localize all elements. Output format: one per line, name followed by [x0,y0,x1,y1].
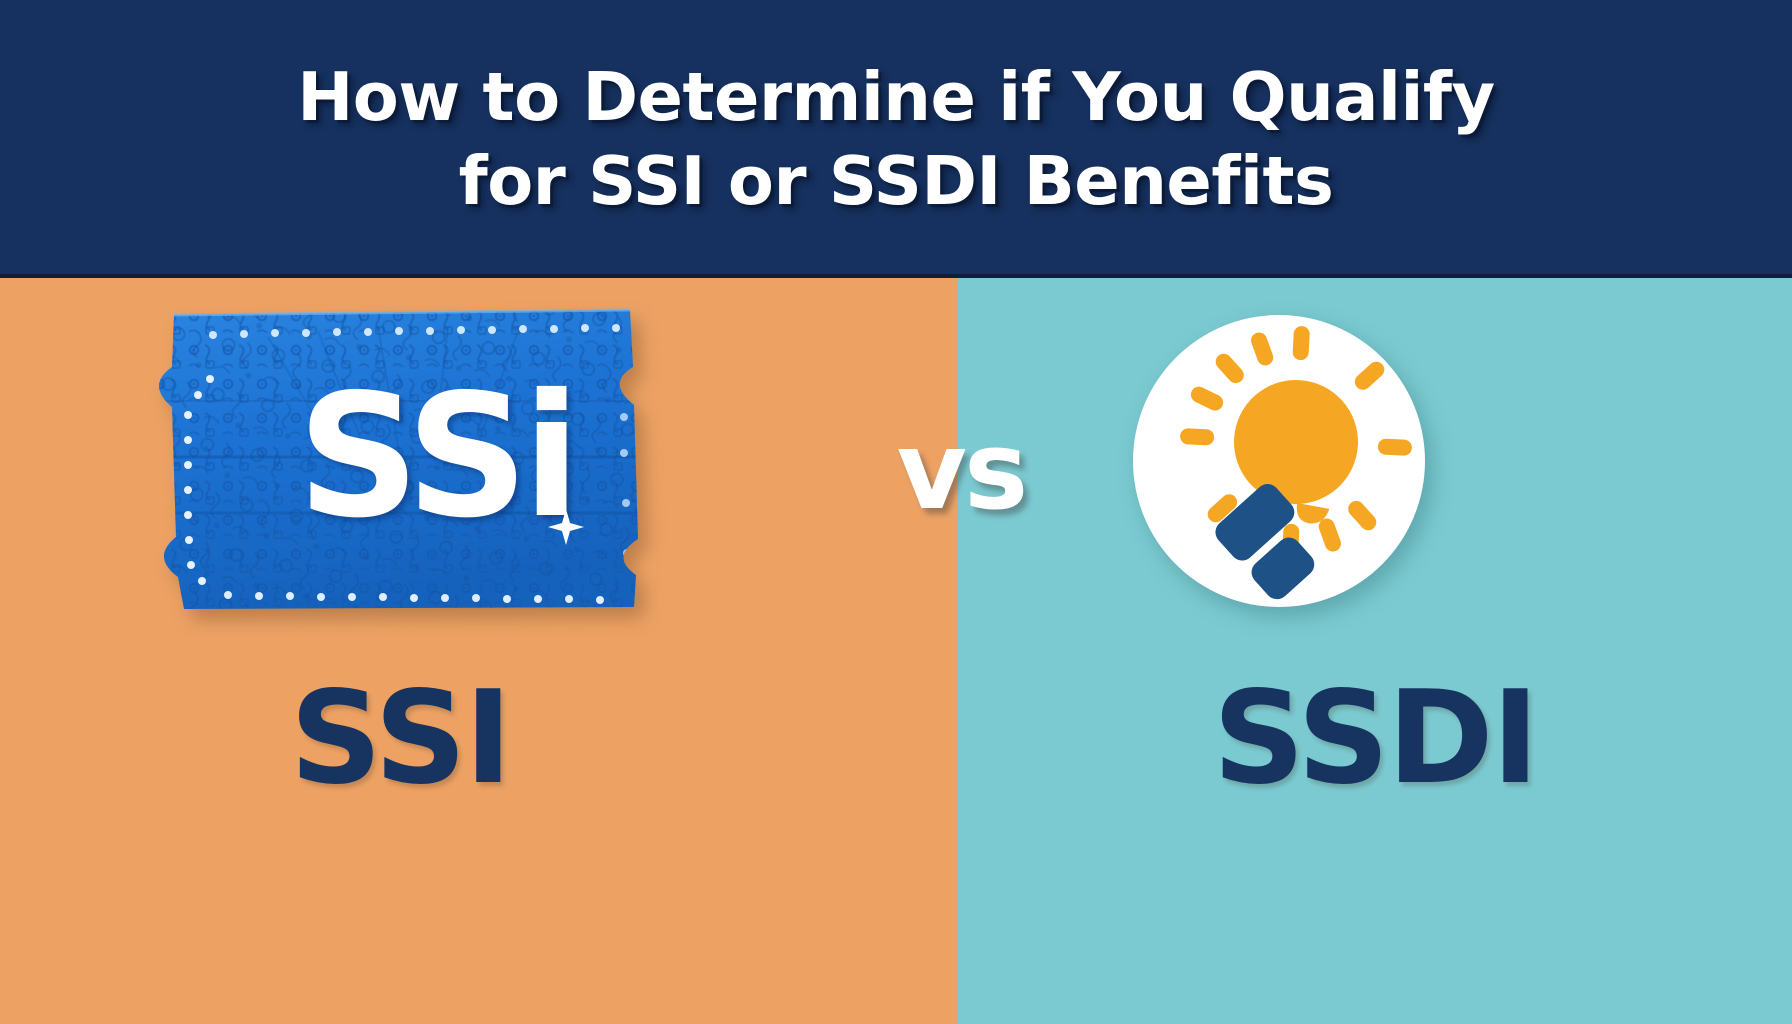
ssi-badge-label-wrap: SSi [118,307,684,612]
ssdi-caption: SSDI [958,675,1792,803]
ssi-caption: SSI [0,675,800,803]
header-banner: How to Determine if You Qualify for SSI … [0,0,1792,278]
vs-label: vs [866,418,1056,526]
infographic-root: How to Determine if You Qualify for SSI … [0,0,1792,1024]
lightbulb-icon [1128,310,1430,612]
page-title: How to Determine if You Qualify for SSI … [186,55,1606,224]
ticket-badge-icon: SSi [118,307,684,612]
ssi-badge-label: SSi [297,372,575,542]
sparkle-icon [546,507,586,547]
